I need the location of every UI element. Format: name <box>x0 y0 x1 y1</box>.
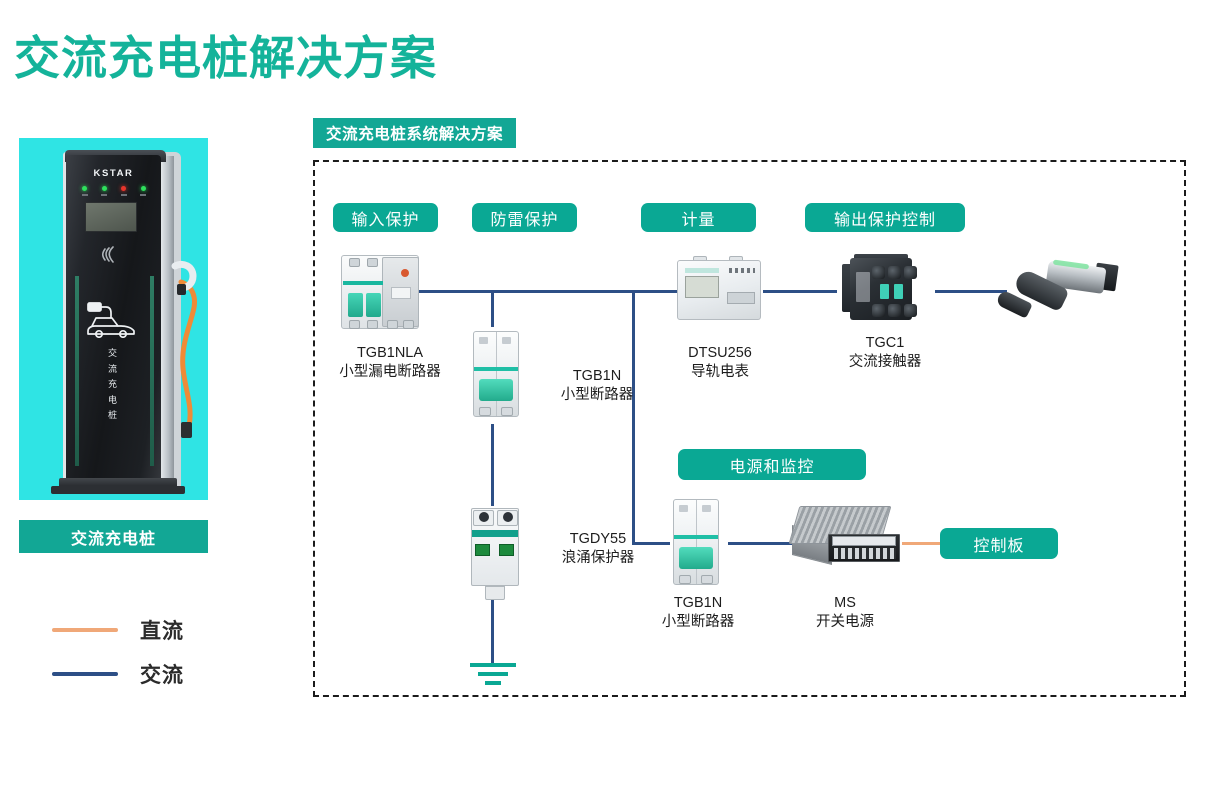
contactor-terminal-bottom-3 <box>904 304 917 317</box>
meter-brand-label <box>685 268 719 273</box>
label-device-spd-model: TGDY55 <box>570 531 626 547</box>
contactor-terminal-bottom-1 <box>872 304 885 317</box>
mcb-bottom-teal-band <box>674 535 718 539</box>
wire-dc-supply-to-control-board <box>902 542 942 545</box>
mcb-bottom-terminal-1 <box>679 575 691 584</box>
pill-power-and-monitoring-label: 电源和监控 <box>729 453 814 477</box>
rcbo-terminal-top-2 <box>367 258 378 267</box>
diagram-canvas: 输入保护 防雷保护 计量 输出保护控制 电源和监控 控制板 <box>313 160 1186 697</box>
mcb-bottom-pole-divider <box>696 500 697 584</box>
page-root: 交流充电桩解决方案 KSTAR <box>0 0 1213 812</box>
label-device-mcb-top-model: TGB1N <box>573 368 621 384</box>
pill-input-protection[interactable]: 输入保护 <box>333 203 438 232</box>
mcb-bottom-slot-2 <box>702 505 711 512</box>
legend-label-ac: 交流 <box>140 659 184 689</box>
legend-label-dc: 直流 <box>140 615 184 645</box>
spd-knob-1 <box>479 512 489 522</box>
contactor-nameplate <box>856 272 870 302</box>
rcbo-terminal-bottom-4 <box>403 320 414 329</box>
pill-metering[interactable]: 计量 <box>641 203 756 232</box>
rcbo-terminal-bottom-3 <box>387 320 398 329</box>
label-device-contactor: TGC1 交流接触器 <box>815 334 955 372</box>
legend: 直流 交流 <box>52 608 184 696</box>
pill-control-board[interactable]: 控制板 <box>940 528 1058 559</box>
ground-symbol-bar-3 <box>485 681 501 685</box>
spd-din-foot <box>485 586 505 600</box>
label-device-power-supply: MS 开关电源 <box>780 594 910 632</box>
wire-ac-meter-to-contactor <box>763 290 837 293</box>
label-device-energy-meter-model: DTSU256 <box>688 345 752 361</box>
device-power-supply <box>788 500 908 588</box>
mcb-top-pole-divider <box>496 332 497 416</box>
rfid-icon <box>95 244 129 268</box>
label-device-rcbo-name: 小型漏电断路器 <box>339 364 441 380</box>
meter-led-bank <box>729 268 755 273</box>
meter-lcd-display <box>685 276 719 298</box>
charging-pile-foot-plate <box>51 486 185 494</box>
label-device-rcbo: TGB1NLA 小型漏电断路器 <box>315 344 465 382</box>
rcbo-terminal-top-1 <box>349 258 360 267</box>
spd-brand-band <box>472 530 518 537</box>
pill-control-board-label: 控制板 <box>973 532 1024 556</box>
legend-swatch-ac <box>52 672 118 676</box>
label-device-spd-name: 浪涌保护器 <box>562 550 635 566</box>
contactor-terminal-top-1 <box>872 266 885 279</box>
device-mcb-bottom <box>663 495 733 593</box>
device-mcb-top <box>463 327 533 425</box>
charging-pile-light-strip-right <box>150 276 154 466</box>
charging-pile-vertical-text: 交流充电桩 <box>97 346 129 424</box>
mcb-bottom-toggle <box>679 547 713 569</box>
rcbo-toggle-2 <box>366 293 381 317</box>
device-spd <box>463 500 533 604</box>
status-led-row <box>75 186 153 191</box>
mcb-top-terminal-1 <box>479 407 491 416</box>
spd-status-window-1 <box>475 544 490 556</box>
pill-power-and-monitoring[interactable]: 电源和监控 <box>678 449 866 480</box>
mcb-top-terminal-2 <box>501 407 513 416</box>
mcb-top-teal-band <box>474 367 518 371</box>
mcb-bottom-slot-1 <box>679 505 688 512</box>
contactor-terminal-top-2 <box>888 266 901 279</box>
pill-metering-label: 计量 <box>681 206 715 230</box>
wire-ac-branch-power-supply <box>632 290 635 545</box>
status-led-4 <box>141 186 146 191</box>
charging-pile-light-strip-left <box>75 276 79 466</box>
label-device-mcb-bottom-model: TGB1N <box>674 595 722 611</box>
label-device-mcb-top-name: 小型断路器 <box>561 387 634 403</box>
contactor-aux-contact-2 <box>894 284 903 299</box>
page-title: 交流充电桩解决方案 <box>14 22 437 88</box>
pill-output-protection-control[interactable]: 输出保护控制 <box>805 203 965 232</box>
device-ev-charging-gun <box>991 250 1123 336</box>
label-device-power-supply-name: 开关电源 <box>816 614 874 630</box>
pill-input-protection-label: 输入保护 <box>351 206 419 230</box>
meter-terminal-block <box>727 292 755 304</box>
rcbo-indicator-window <box>391 287 411 299</box>
status-led-1 <box>82 186 87 191</box>
label-device-spd: TGDY55 浪涌保护器 <box>533 530 663 568</box>
wire-ac-branch-lightning <box>491 290 494 327</box>
charging-pile-display <box>85 202 137 232</box>
status-led-labels <box>75 194 153 196</box>
legend-item-dc: 直流 <box>52 608 184 652</box>
rcbo-terminal-bottom-2 <box>367 320 378 329</box>
ground-symbol-bar-1 <box>470 663 516 667</box>
label-device-mcb-bottom-name: 小型断路器 <box>662 614 735 630</box>
spd-knob-2 <box>503 512 513 522</box>
mcb-bottom-terminal-2 <box>701 575 713 584</box>
label-device-energy-meter: DTSU256 导轨电表 <box>645 344 795 382</box>
label-device-contactor-model: TGC1 <box>866 335 905 351</box>
power-supply-screw-terminals <box>834 548 896 559</box>
label-device-energy-meter-name: 导轨电表 <box>691 364 749 380</box>
ev-charging-car-icon <box>85 300 139 338</box>
device-energy-meter <box>673 254 767 334</box>
label-device-contactor-name: 交流接触器 <box>849 354 922 370</box>
legend-item-ac: 交流 <box>52 652 184 696</box>
pill-lightning-protection-label: 防雷保护 <box>490 206 558 230</box>
rcbo-teal-band <box>343 281 383 285</box>
device-rcbo <box>335 247 431 343</box>
label-device-rcbo-model: TGB1NLA <box>357 345 423 361</box>
product-caption: 交流充电桩 <box>19 520 208 553</box>
diagram-panel-title: 交流充电桩系统解决方案 <box>313 118 516 148</box>
label-device-power-supply-model: MS <box>834 595 856 611</box>
power-supply-terminal-strip <box>832 536 896 546</box>
mcb-top-toggle <box>479 379 513 401</box>
legend-swatch-dc <box>52 628 118 632</box>
wire-ac-spd-drop <box>491 424 494 506</box>
contactor-terminal-top-3 <box>904 266 917 279</box>
product-photo: KSTAR 交流充电桩 <box>19 138 208 500</box>
charging-cable-and-gun <box>167 260 207 450</box>
wire-ac-main-bus <box>397 290 679 293</box>
pill-lightning-protection[interactable]: 防雷保护 <box>472 203 577 232</box>
spd-status-window-2 <box>499 544 514 556</box>
ground-symbol-bar-2 <box>478 672 508 676</box>
device-contactor <box>840 250 932 336</box>
rcbo-toggle-1 <box>348 293 363 317</box>
label-device-mcb-bottom: TGB1N 小型断路器 <box>628 594 768 632</box>
brand-logo: KSTAR <box>66 168 161 179</box>
pill-output-protection-control-label: 输出保护控制 <box>834 206 936 230</box>
rcbo-test-button <box>401 269 409 277</box>
contactor-terminal-bottom-2 <box>888 304 901 317</box>
contactor-aux-contact-1 <box>880 284 889 299</box>
rcbo-terminal-bottom-1 <box>349 320 360 329</box>
status-led-3 <box>121 186 126 191</box>
mcb-top-slot-1 <box>479 337 488 344</box>
mcb-top-slot-2 <box>502 337 511 344</box>
status-led-2 <box>102 186 107 191</box>
